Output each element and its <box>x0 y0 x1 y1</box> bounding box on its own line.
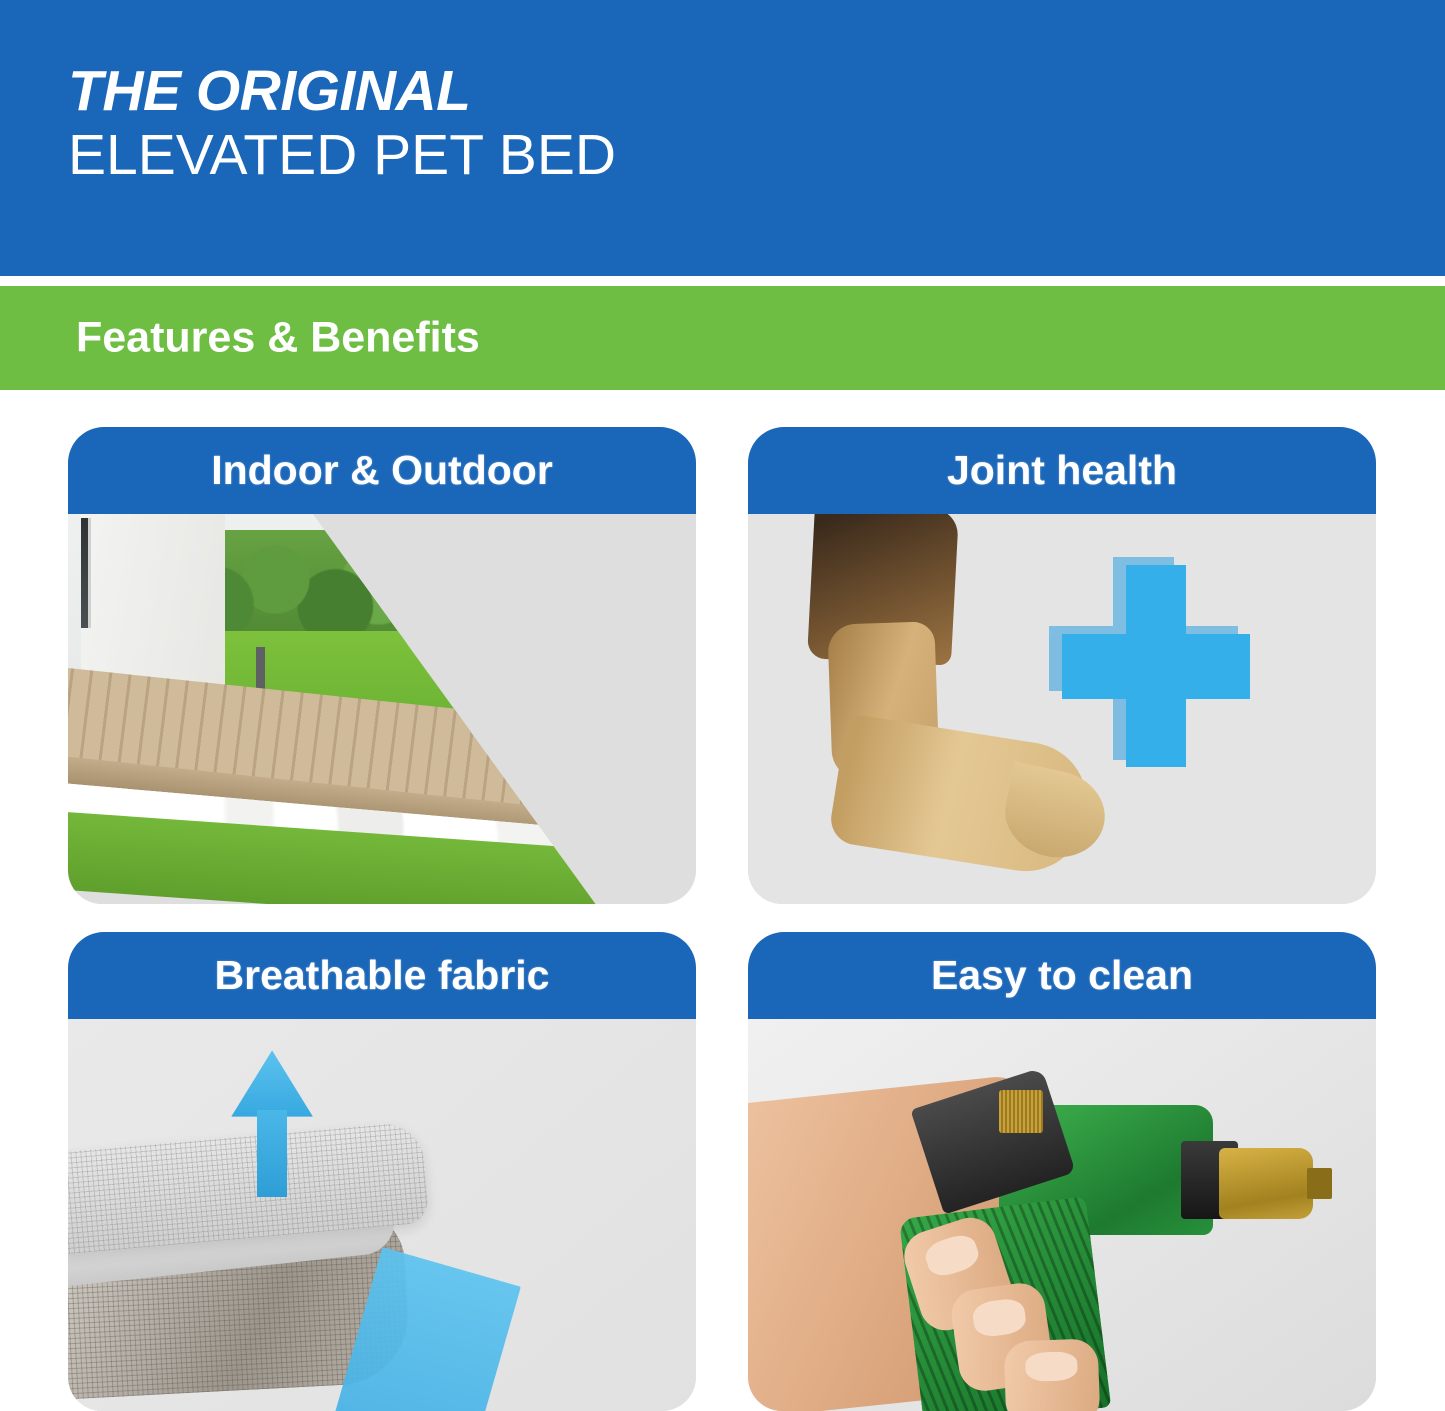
feature-card-header: Breathable fabric <box>68 932 696 1019</box>
features-section-banner: Features & Benefits <box>0 286 1445 390</box>
outdoor-scene <box>68 514 696 904</box>
fingernail <box>1025 1352 1079 1383</box>
sofa-leg <box>645 880 655 904</box>
hero-banner: THE ORIGINAL ELEVATED PET BED <box>0 0 1445 276</box>
finger <box>1004 1339 1101 1411</box>
feature-card-title: Indoor & Outdoor <box>211 447 553 494</box>
feature-card-image <box>68 1019 696 1411</box>
sofa-armrest <box>608 713 696 877</box>
feature-card-image <box>748 1019 1376 1411</box>
fingernail <box>971 1297 1028 1339</box>
mesh-fabric-photo <box>68 1019 696 1411</box>
medical-cross-icon <box>1062 565 1250 768</box>
dog-paw-photo <box>748 514 1376 904</box>
infographic-page: THE ORIGINAL ELEVATED PET BED Features &… <box>0 0 1445 1411</box>
hero-title-line1: THE ORIGINAL <box>68 60 616 124</box>
feature-card-title: Breathable fabric <box>215 952 550 999</box>
features-section-title: Features & Benefits <box>76 314 480 363</box>
feature-card-grid: Indoor & Outdoor <box>0 390 1445 1411</box>
hero-title-block: THE ORIGINAL ELEVATED PET BED <box>68 60 616 188</box>
feature-card-title: Easy to clean <box>931 952 1193 999</box>
indoor-outdoor-split-photo <box>68 514 696 904</box>
airflow-arrow-up-icon <box>231 1050 313 1191</box>
feature-card-joint-health: Joint health <box>748 427 1376 904</box>
feature-card-header: Indoor & Outdoor <box>68 427 696 514</box>
hero-band-divider <box>0 276 1445 286</box>
fingernail <box>922 1231 983 1280</box>
feature-card-image <box>68 514 696 904</box>
feature-card-header: Joint health <box>748 427 1376 514</box>
feature-card-title: Joint health <box>947 447 1177 494</box>
feature-card-breathable-fabric: Breathable fabric <box>68 932 696 1411</box>
feature-card-indoor-outdoor: Indoor & Outdoor <box>68 427 696 904</box>
patio-door <box>81 518 91 627</box>
feature-card-image <box>748 514 1376 904</box>
brass-adjust-screw <box>999 1090 1043 1133</box>
sofa-leg <box>607 880 617 904</box>
feature-card-header: Easy to clean <box>748 932 1376 1019</box>
hero-title-line2: ELEVATED PET BED <box>68 124 616 188</box>
feature-card-easy-to-clean: Easy to clean <box>748 932 1376 1411</box>
brass-spray-tip <box>1219 1148 1313 1219</box>
hose-nozzle-photo <box>748 1019 1376 1411</box>
spray-tip-nose <box>1307 1168 1332 1199</box>
